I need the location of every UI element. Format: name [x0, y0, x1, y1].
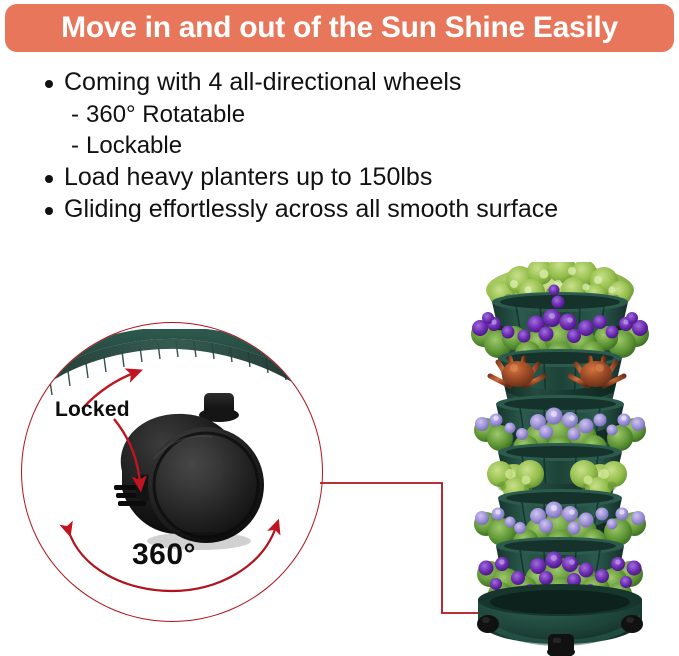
feature-text: Load heavy planters up to 150lbs: [64, 161, 432, 194]
page-title: Move in and out of the Sun Shine Easily: [61, 13, 618, 43]
feature-text: Lockable: [86, 130, 182, 161]
dash-icon: -: [71, 130, 79, 161]
dash-icon: -: [71, 99, 79, 130]
caster-detail-callout: Locked 360°: [21, 322, 323, 622]
planter-base-tray: [477, 584, 643, 656]
locked-label: Locked: [55, 398, 130, 422]
list-item: Load heavy planters up to 150lbs: [45, 161, 670, 194]
annotation-arrows: [22, 323, 322, 621]
bullet-dot-icon: [45, 80, 53, 88]
list-item: - 360° Rotatable: [45, 99, 670, 130]
list-item: - Lockable: [45, 130, 670, 161]
bullet-dot-icon: [45, 175, 53, 183]
feature-text: Gliding effortlessly across all smooth s…: [64, 193, 558, 226]
feature-text: Coming with 4 all-directional wheels: [64, 66, 461, 99]
feature-list: Coming with 4 all-directional wheels - 3…: [45, 66, 670, 226]
rotation-label: 360°: [132, 538, 196, 572]
list-item: Gliding effortlessly across all smooth s…: [45, 193, 670, 226]
list-item: Coming with 4 all-directional wheels: [45, 66, 670, 99]
header-banner: Move in and out of the Sun Shine Easily: [5, 4, 674, 52]
bullet-dot-icon: [45, 207, 53, 215]
infographic-page: Move in and out of the Sun Shine Easily …: [0, 0, 679, 656]
feature-text: 360° Rotatable: [86, 99, 245, 130]
planter-tower-image: [440, 262, 679, 656]
callout-inner: Locked 360°: [22, 323, 322, 621]
locked-down-arrow: [114, 419, 140, 483]
